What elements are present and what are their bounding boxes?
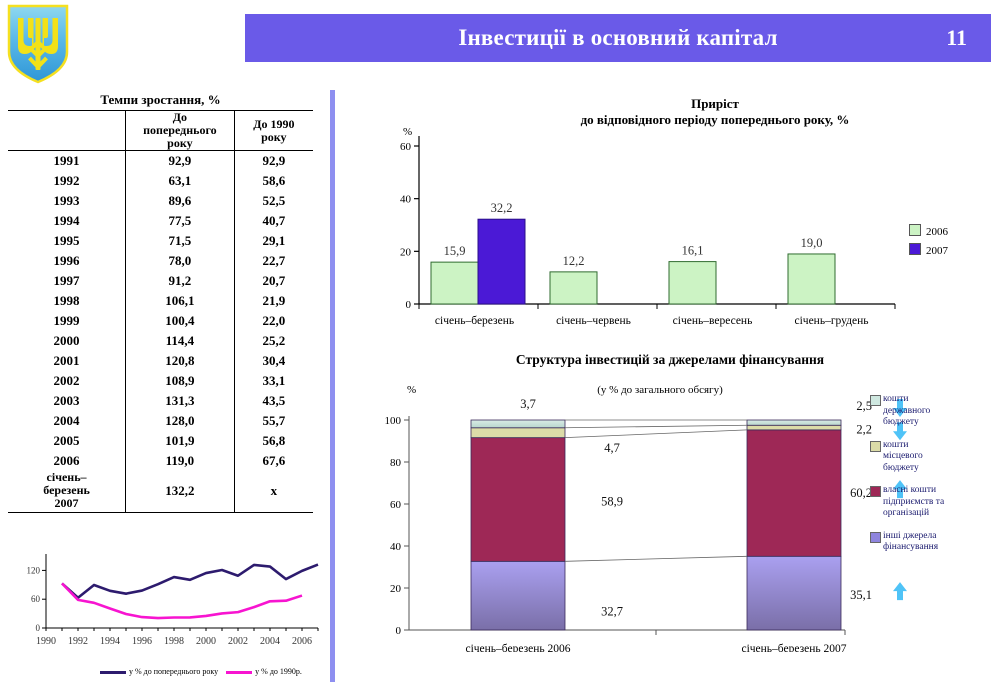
table-cell-year: 1999: [8, 311, 126, 331]
chart-label: 60,2: [850, 486, 872, 500]
chart-label: січень–березень 2007: [741, 643, 846, 652]
chart-label: 60: [400, 141, 412, 153]
table-header-prev-year: До попереднього року: [126, 111, 235, 151]
table-body: 199192,992,9199263,158,6199389,652,51994…: [8, 151, 313, 472]
legend-item-2007: 2007: [909, 243, 948, 257]
stacked-chart-ylabel: %: [407, 384, 416, 396]
table-cell-base1990: 33,1: [234, 371, 313, 391]
chart-label: 100: [385, 415, 402, 427]
legend-item-2006: 2006: [909, 224, 948, 238]
stack-segment: [747, 556, 841, 630]
chart-label: січень–березень: [435, 315, 514, 327]
table-row: 2002108,933,1: [8, 371, 313, 391]
chart-label: 20: [400, 246, 412, 258]
legend-swatch-2007: [909, 243, 921, 255]
table-cell-year: 1997: [8, 271, 126, 291]
table-cell-prev: 78,0: [126, 251, 235, 271]
line-chart-legend: у % до попереднього року у % до 1990р.: [100, 667, 302, 676]
stacked-chart-title: Структура інвестицій за джерелами фінанс…: [435, 352, 905, 368]
connector-line: [565, 430, 747, 438]
legend-item-state-budget: кошти державного бюджету: [870, 394, 990, 429]
table-cell-prev: 92,9: [126, 151, 235, 172]
stacked-chart-subtitle: (у % до загального обсягу): [495, 384, 825, 396]
table-cell-prev: 101,9: [126, 431, 235, 451]
bar-2007: [478, 219, 525, 304]
table-cell-base1990: 20,7: [234, 271, 313, 291]
chart-label: 1992: [68, 636, 88, 647]
chart-label: 60: [390, 499, 402, 511]
connector-line: [565, 556, 747, 561]
legend-item-prev-year: у % до попереднього року: [100, 667, 218, 676]
table-cell-year: 2003: [8, 391, 126, 411]
line-chart: 0601201990199219941996199820002002200420…: [8, 548, 328, 683]
table-cell-base1990: 25,2: [234, 331, 313, 351]
bar-chart-legend: 2006 2007: [909, 224, 948, 262]
table-cell-year: 2001: [8, 351, 126, 371]
chart-label: січень–червень: [556, 315, 631, 327]
table-cell-base1990: 92,9: [234, 151, 313, 172]
growth-bar-chart: Приріст до відповідного періоду попередн…: [375, 96, 991, 336]
table-cell-base1990: 22,7: [234, 251, 313, 271]
vertical-divider: [330, 90, 335, 682]
bar-2006: [550, 272, 597, 304]
table-cell-base1990: 43,5: [234, 391, 313, 411]
chart-label: 0: [36, 623, 41, 633]
table-cell-year: січень– березень 2007: [8, 471, 126, 513]
page-number: 11: [946, 14, 967, 62]
table-cell-prev: 128,0: [126, 411, 235, 431]
table-header-row: До попереднього року До 1990 року: [8, 111, 313, 151]
chart-label: 58,9: [601, 494, 623, 508]
table-cell-prev: 71,5: [126, 231, 235, 251]
chart-label: 32,2: [491, 201, 513, 215]
chart-label: 16,1: [682, 244, 704, 258]
table-row: 2000114,425,2: [8, 331, 313, 351]
table-cell-year: 1991: [8, 151, 126, 172]
bar-chart-plot: 020406015,932,2січень–березень12,2січень…: [375, 96, 991, 336]
legend-item-local-budget: кошти місцевого бюджету: [870, 440, 990, 475]
table-cell-base1990: 58,6: [234, 171, 313, 191]
table-cell-year: 2005: [8, 431, 126, 451]
table-row: 1999100,422,0: [8, 311, 313, 331]
legend-item-1990: у % до 1990р.: [226, 667, 302, 676]
chart-label: 19,0: [801, 236, 823, 250]
table-cell-prev: 100,4: [126, 311, 235, 331]
table-cell-prev: 108,9: [126, 371, 235, 391]
chart-label: 1990: [36, 636, 56, 647]
legend-swatch-state-budget: [870, 395, 881, 406]
bar-chart-title: Приріст до відповідного періоду попередн…: [505, 96, 925, 128]
table-cell-prev: 131,3: [126, 391, 235, 411]
table-cell-base1990: 30,4: [234, 351, 313, 371]
chart-label: 2004: [260, 636, 280, 647]
connector-line: [565, 425, 747, 428]
table-row: 199678,022,7: [8, 251, 313, 271]
chart-label: 12,2: [563, 254, 585, 268]
page-title: Інвестиції в основний капітал: [245, 14, 991, 62]
table-row: 2005101,956,8: [8, 431, 313, 451]
stack-segment: [747, 420, 841, 425]
table-row: 199389,652,5: [8, 191, 313, 211]
table-cell-year: 1996: [8, 251, 126, 271]
chart-label: 1996: [132, 636, 152, 647]
legend-item-other-sources: інші джерела фінансування: [870, 531, 990, 554]
chart-label: 40: [400, 194, 412, 206]
legend-item-own-funds: власні кошти підприємств та організацій: [870, 485, 990, 520]
chart-label: січень–грудень: [794, 315, 868, 327]
slide: Інвестиції в основний капітал 11 Темпи з…: [0, 0, 991, 686]
table-cell-year: 2004: [8, 411, 126, 431]
table-cell-prev: 89,6: [126, 191, 235, 211]
line-series: [62, 565, 318, 598]
stack-segment: [471, 428, 565, 438]
stack-segment: [471, 420, 565, 428]
growth-rates-table: Темпи зростання, % До попереднього року …: [8, 92, 313, 513]
line-series: [62, 583, 302, 618]
table-cell-base1990: 56,8: [234, 431, 313, 451]
table-row: 2006119,067,6: [8, 451, 313, 471]
chart-label: 2000: [196, 636, 216, 647]
table-cell-prev: 114,4: [126, 331, 235, 351]
chart-label: 80: [390, 457, 402, 469]
table-cell-year: 1992: [8, 171, 126, 191]
table-cell-base1990: 55,7: [234, 411, 313, 431]
chart-label: 120: [27, 565, 41, 575]
table-row: 199192,992,9: [8, 151, 313, 172]
table-row: 199571,529,1: [8, 231, 313, 251]
table-row: 2003131,343,5: [8, 391, 313, 411]
chart-label: січень–вересень: [673, 315, 753, 327]
table-cell-prev: 106,1: [126, 291, 235, 311]
chart-label: 4,7: [604, 441, 620, 455]
chart-label: 32,7: [601, 605, 623, 619]
table-row: 1998106,121,9: [8, 291, 313, 311]
table-row: 199263,158,6: [8, 171, 313, 191]
stack-segment: [471, 561, 565, 630]
table-cell-base1990: x: [234, 471, 313, 513]
stack-segment: [747, 425, 841, 430]
table-cell-base1990: 29,1: [234, 231, 313, 251]
table-cell-prev: 120,8: [126, 351, 235, 371]
table-header-blank: [8, 111, 126, 151]
table-cell-prev: 132,2: [126, 471, 235, 513]
legend-swatch-other-sources: [870, 532, 881, 543]
chart-label: 1998: [164, 636, 184, 647]
table-title: Темпи зростання, %: [8, 92, 313, 110]
table-cell-prev: 77,5: [126, 211, 235, 231]
legend-swatch-2006: [909, 224, 921, 236]
table-cell-prev: 119,0: [126, 451, 235, 471]
chart-label: 2002: [228, 636, 248, 647]
table-row: 2004128,055,7: [8, 411, 313, 431]
table-cell-base1990: 52,5: [234, 191, 313, 211]
table-cell-year: 2002: [8, 371, 126, 391]
chart-label: 1994: [100, 636, 120, 647]
table-header-base-1990: До 1990 року: [234, 111, 313, 151]
table-cell-base1990: 21,9: [234, 291, 313, 311]
bar-2006: [788, 254, 835, 304]
chart-label: 40: [390, 541, 402, 553]
ukraine-coat-of-arms-icon: [5, 2, 71, 86]
table-cell-base1990: 40,7: [234, 211, 313, 231]
stack-segment: [747, 430, 841, 556]
chart-label: 20: [390, 583, 402, 595]
table-cell-year: 2000: [8, 331, 126, 351]
legend-swatch-prev-year: [100, 671, 126, 674]
legend-swatch-own-funds: [870, 486, 881, 497]
stacked-chart-legend: кошти державного бюджету кошти місцевого…: [870, 394, 990, 565]
table-cell-year: 1994: [8, 211, 126, 231]
table-cell-base1990: 22,0: [234, 311, 313, 331]
table-cell-year: 2006: [8, 451, 126, 471]
table-row: 2001120,830,4: [8, 351, 313, 371]
arrow-up-icon: [893, 582, 907, 600]
bar-chart-ylabel: %: [403, 126, 412, 138]
table-cell-prev: 63,1: [126, 171, 235, 191]
table-row: 199791,220,7: [8, 271, 313, 291]
bar-2006: [431, 262, 478, 304]
investment-structure-chart: Структура інвестицій за джерелами фінанс…: [375, 352, 991, 672]
bar-2006: [669, 262, 716, 304]
table-cell-prev: 91,2: [126, 271, 235, 291]
legend-swatch-local-budget: [870, 441, 881, 452]
line-chart-plot: 0601201990199219941996199820002002200420…: [8, 548, 328, 666]
chart-label: 0: [396, 625, 402, 637]
chart-label: січень–березень 2006: [465, 643, 570, 652]
table-cell-year: 1995: [8, 231, 126, 251]
legend-swatch-1990: [226, 671, 252, 674]
table-cell-base1990: 67,6: [234, 451, 313, 471]
chart-label: 3,7: [520, 397, 536, 411]
slide-title-bar: Інвестиції в основний капітал 11: [245, 14, 991, 62]
chart-label: 35,1: [850, 588, 872, 602]
chart-label: 60: [31, 594, 41, 604]
table-cell-year: 1998: [8, 291, 126, 311]
chart-label: 15,9: [444, 244, 466, 258]
chart-label: 0: [406, 299, 412, 311]
table-row: 199477,540,7: [8, 211, 313, 231]
stack-segment: [471, 438, 565, 562]
chart-label: 2006: [292, 636, 312, 647]
table-cell-year: 1993: [8, 191, 126, 211]
table-row-last: січень– березень 2007 132,2 x: [8, 471, 313, 513]
